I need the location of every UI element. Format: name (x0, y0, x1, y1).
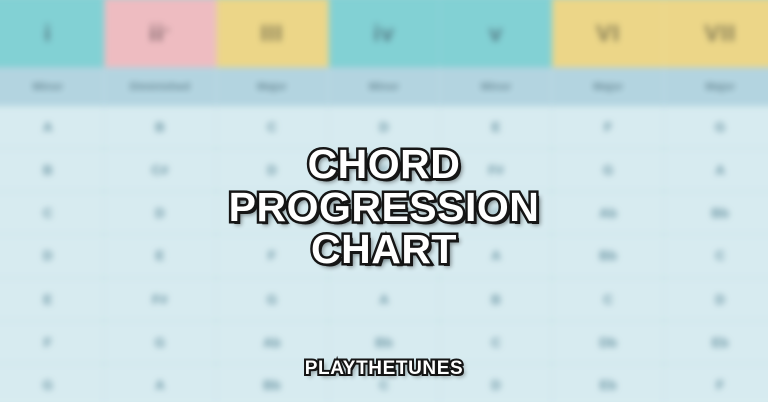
chord-cell: A (328, 278, 440, 320)
column-quality-v: Minor (441, 67, 553, 106)
table-row: EF#GABCD (0, 278, 768, 321)
column-quality-vii: Major (665, 67, 768, 106)
chord-cell: B (0, 149, 104, 191)
chord-cell: Eb (216, 192, 328, 234)
chord-cell: Bb (553, 235, 665, 277)
blurred-chord-table-background: iii°IIIivvVIVII MinorDiminishedMajorMino… (0, 0, 768, 402)
chord-cell: G (441, 192, 553, 234)
degree-label: v (489, 19, 503, 47)
chord-cell: A (0, 106, 104, 148)
column-quality-vi: Major (553, 67, 665, 106)
column-quality-iii: Major (216, 67, 328, 106)
chord-cell: C# (104, 149, 216, 191)
chord-progression-table: iii°IIIivvVIVII MinorDiminishedMajorMino… (0, 0, 768, 402)
chord-cell: Ab (553, 192, 665, 234)
chord-cell: C (441, 321, 553, 363)
chord-cell: Bb (665, 192, 768, 234)
table-body: ABCDEFGBC#DEF#GACDEbFGAbBbDEFGABbCEF#GAB… (0, 106, 768, 402)
chord-cell: F (0, 321, 104, 363)
chord-cell: Eb (553, 364, 665, 402)
chord-cell: C (553, 278, 665, 320)
chord-cell: Ab (216, 321, 328, 363)
chord-cell: B (104, 106, 216, 148)
column-header-ii: ii° (104, 0, 216, 67)
table-quality-subheader-row: MinorDiminishedMajorMinorMinorMajorMajor (0, 67, 768, 106)
chord-cell: A (441, 235, 553, 277)
column-quality-i: Minor (0, 67, 104, 106)
chord-cell: Db (553, 321, 665, 363)
chord-cell: G (665, 106, 768, 148)
chord-cell: G (216, 278, 328, 320)
chord-cell: G (328, 235, 440, 277)
table-row: ABCDEFG (0, 106, 768, 149)
table-row: CDEbFGAbBb (0, 192, 768, 235)
chord-cell: F# (441, 149, 553, 191)
chord-cell: E (104, 235, 216, 277)
chord-cell: C (0, 192, 104, 234)
chord-cell: C (216, 106, 328, 148)
chord-cell: A (665, 149, 768, 191)
chord-cell: Bb (328, 321, 440, 363)
chord-cell: D (328, 106, 440, 148)
table-row: FGAbBbCDbEb (0, 321, 768, 364)
chord-chart-graphic: iii°IIIivvVIVII MinorDiminishedMajorMino… (0, 0, 768, 402)
chord-cell: A (104, 364, 216, 402)
chord-cell: F# (104, 278, 216, 320)
degree-label: iv (373, 19, 395, 47)
column-quality-iv: Minor (328, 67, 440, 106)
chord-cell: G (0, 364, 104, 402)
chord-cell: D (104, 192, 216, 234)
chord-cell: B (441, 278, 553, 320)
chord-cell: E (0, 278, 104, 320)
column-quality-ii: Diminished (104, 67, 216, 106)
table-row: BC#DEF#GA (0, 149, 768, 192)
chord-cell: D (216, 149, 328, 191)
column-header-iii: III (216, 0, 328, 67)
chord-cell: E (441, 106, 553, 148)
column-header-v: v (441, 0, 553, 67)
chord-cell: G (553, 149, 665, 191)
chord-cell: C (665, 235, 768, 277)
chord-cell: E (328, 149, 440, 191)
column-header-i: i (0, 0, 104, 67)
chord-cell: G (104, 321, 216, 363)
chord-cell: C (328, 364, 440, 402)
chord-cell: F (665, 364, 768, 402)
degree-label: VII (704, 19, 736, 47)
degree-label: i (44, 19, 52, 47)
chord-cell: Eb (665, 321, 768, 363)
column-header-iv: iv (328, 0, 440, 67)
chord-cell: F (328, 192, 440, 234)
chord-cell: D (441, 364, 553, 402)
table-row: DEFGABbC (0, 235, 768, 278)
chord-cell: D (0, 235, 104, 277)
chord-cell: Bb (216, 364, 328, 402)
chord-cell: F (553, 106, 665, 148)
column-header-vi: VI (553, 0, 665, 67)
table-degree-header-row: iii°IIIivvVIVII (0, 0, 768, 67)
degree-label: ii (149, 19, 164, 47)
degree-label: VI (596, 19, 620, 47)
chord-cell: D (665, 278, 768, 320)
degree-label: III (261, 19, 284, 47)
table-row: GABbCDEbF (0, 364, 768, 402)
chord-cell: F (216, 235, 328, 277)
column-header-vii: VII (665, 0, 768, 67)
